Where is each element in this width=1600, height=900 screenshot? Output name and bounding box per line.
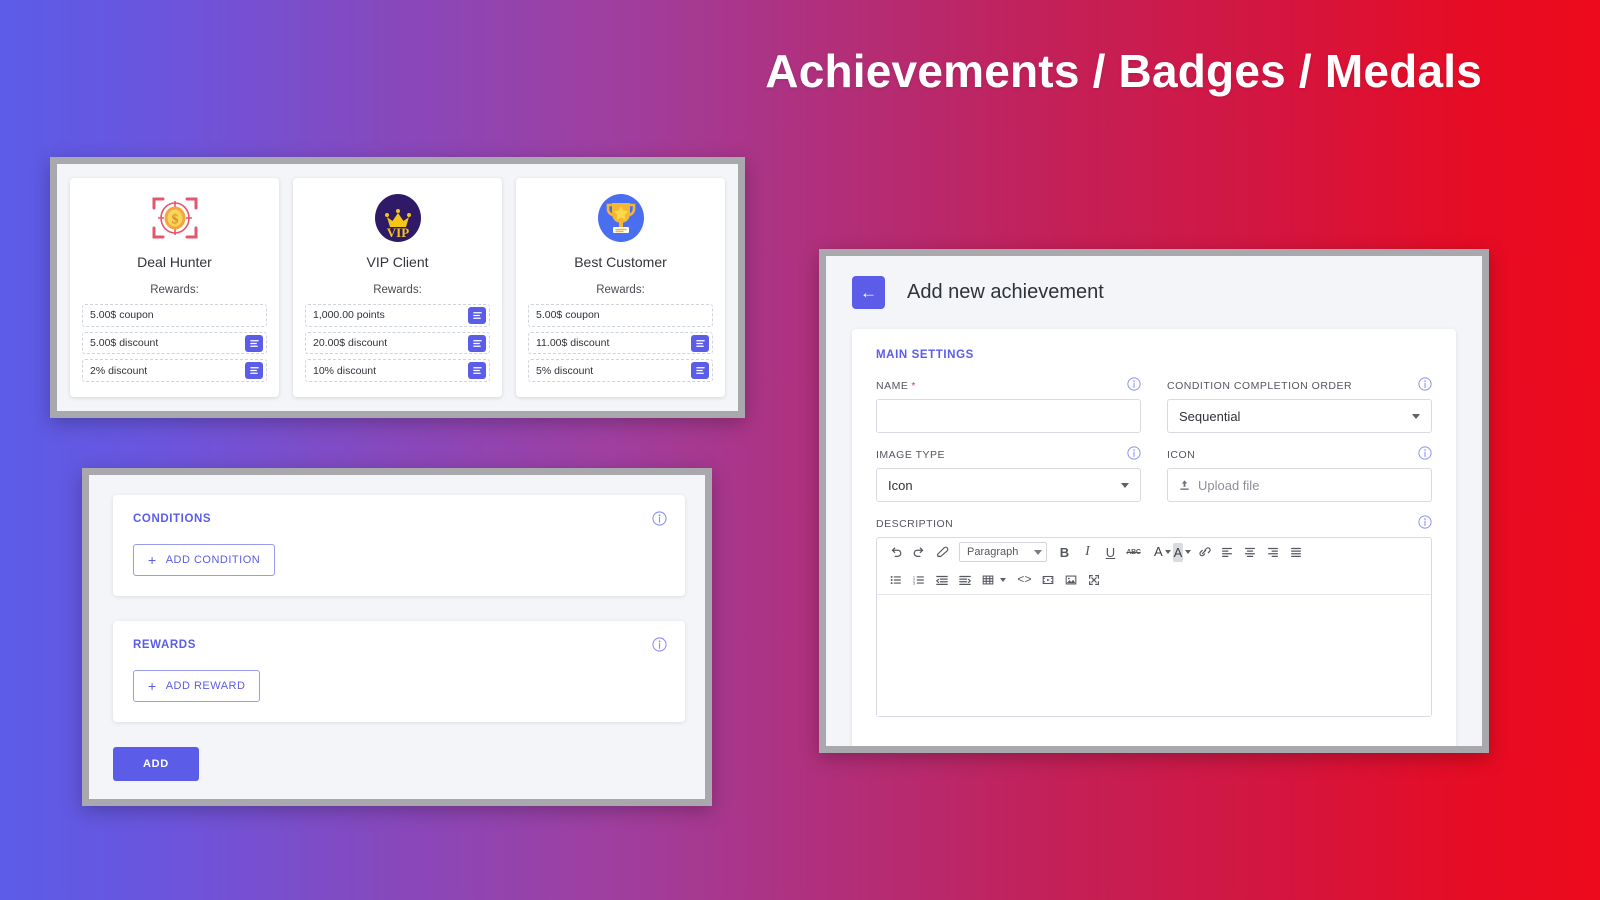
- image-icon[interactable]: [1060, 570, 1081, 590]
- arrow-left-icon[interactable]: ←: [852, 276, 885, 309]
- condition-order-value: Sequential: [1179, 409, 1240, 424]
- text-color-icon[interactable]: A: [1154, 543, 1171, 561]
- field-image-type: IMAGE TYPE Icon: [876, 449, 1141, 502]
- condition-order-label: CONDITION COMPLETION ORDER: [1167, 380, 1432, 392]
- block-format-value: Paragraph: [967, 546, 1018, 558]
- reward-detail-icon[interactable]: [468, 335, 486, 352]
- field-icon: ICON Uplo: [1167, 449, 1432, 502]
- page-title: Achievements / Badges / Medals: [765, 44, 1482, 98]
- reward-text: 5.00$ coupon: [536, 309, 691, 321]
- badge-name: Best Customer: [574, 254, 667, 270]
- field-description: DESCRIPTION: [876, 518, 1432, 717]
- badge-card-best-customer[interactable]: Best Customer Rewards: 5.00$ coupon 11.0…: [516, 178, 725, 397]
- editor-toolbar-row-2: 123: [877, 566, 1431, 594]
- info-icon[interactable]: [1418, 377, 1432, 391]
- reward-row[interactable]: 2% discount: [82, 359, 267, 382]
- reward-text: 2% discount: [90, 365, 245, 377]
- reward-row[interactable]: 5.00$ discount: [82, 332, 267, 355]
- condition-order-select[interactable]: Sequential: [1167, 399, 1432, 433]
- reward-row[interactable]: 20.00$ discount: [305, 332, 490, 355]
- reward-row[interactable]: 10% discount: [305, 359, 490, 382]
- badge-card-vip-client[interactable]: VIP VIP Client Rewards: 1,000.00 points …: [293, 178, 502, 397]
- italic-icon[interactable]: I: [1077, 542, 1098, 562]
- numbered-list-icon[interactable]: 123: [908, 570, 929, 590]
- reward-detail-icon[interactable]: [245, 335, 263, 352]
- add-condition-label: ADD CONDITION: [166, 554, 261, 566]
- text-color-letter: A: [1154, 544, 1163, 559]
- info-icon[interactable]: [1127, 446, 1141, 460]
- reward-row[interactable]: 5% discount: [528, 359, 713, 382]
- plus-icon: +: [148, 553, 157, 567]
- info-icon[interactable]: [652, 511, 667, 526]
- info-icon[interactable]: [1418, 446, 1432, 460]
- highlight-letter: A: [1174, 545, 1183, 560]
- info-icon[interactable]: [1127, 377, 1141, 391]
- main-settings-card: MAIN SETTINGS NAME * CON: [852, 329, 1456, 753]
- video-icon[interactable]: [1037, 570, 1058, 590]
- reward-row[interactable]: 5.00$ coupon: [528, 304, 713, 327]
- bold-icon[interactable]: B: [1054, 542, 1075, 562]
- reward-text: 11.00$ discount: [536, 337, 691, 349]
- svg-text:$: $: [171, 213, 178, 228]
- name-input[interactable]: [876, 399, 1141, 433]
- upload-label: Upload file: [1198, 478, 1259, 493]
- description-editor-body[interactable]: [877, 594, 1431, 716]
- field-name: NAME *: [876, 380, 1141, 433]
- rewards-section: REWARDS + ADD REWARD: [113, 621, 685, 722]
- image-type-label: IMAGE TYPE: [876, 449, 1141, 461]
- chevron-down-icon[interactable]: [1000, 578, 1006, 582]
- add-achievement-panel: ← Add new achievement MAIN SETTINGS NAME…: [819, 249, 1489, 753]
- badge-card-deal-hunter[interactable]: $ Deal Hunter Rewards: 5.00$ coupon 5.00…: [70, 178, 279, 397]
- description-label: DESCRIPTION: [876, 518, 1432, 530]
- upload-icon: [1179, 479, 1190, 491]
- reward-detail-icon[interactable]: [468, 362, 486, 379]
- field-condition-completion-order: CONDITION COMPLETION ORDER Sequential: [1167, 380, 1432, 433]
- align-justify-icon[interactable]: [1285, 542, 1306, 562]
- image-type-select[interactable]: Icon: [876, 468, 1141, 502]
- name-label: NAME *: [876, 380, 1141, 392]
- reward-detail-icon[interactable]: [691, 362, 709, 379]
- reward-detail-icon[interactable]: [691, 335, 709, 352]
- reward-row[interactable]: 5.00$ coupon: [82, 304, 267, 327]
- chevron-down-icon: [1034, 550, 1042, 555]
- conditions-title: CONDITIONS: [133, 513, 665, 525]
- rewards-label: Rewards:: [150, 284, 199, 296]
- svg-text:3: 3: [912, 581, 915, 586]
- bullet-list-icon[interactable]: [885, 570, 906, 590]
- target-coin-icon: $: [149, 192, 201, 244]
- reward-detail-icon[interactable]: [245, 362, 263, 379]
- add-reward-label: ADD REWARD: [166, 680, 246, 692]
- rewards-label: Rewards:: [373, 284, 422, 296]
- highlight-color-icon[interactable]: A: [1173, 543, 1192, 562]
- align-center-icon[interactable]: [1239, 542, 1260, 562]
- panel-title: Add new achievement: [907, 281, 1104, 304]
- info-icon[interactable]: [1418, 515, 1432, 529]
- submit-add-button[interactable]: ADD: [113, 747, 199, 781]
- rewards-label: Rewards:: [596, 284, 645, 296]
- reward-text: 20.00$ discount: [313, 337, 468, 349]
- align-right-icon[interactable]: [1262, 542, 1283, 562]
- icon-upload-button[interactable]: Upload file: [1167, 468, 1432, 502]
- svg-text:VIP: VIP: [386, 225, 408, 240]
- reward-text: 5.00$ coupon: [90, 309, 245, 321]
- link-icon[interactable]: [1193, 542, 1214, 562]
- outdent-icon[interactable]: [931, 570, 952, 590]
- block-format-select[interactable]: Paragraph: [959, 542, 1047, 562]
- reward-row[interactable]: 11.00$ discount: [528, 332, 713, 355]
- reward-text: 5.00$ discount: [90, 337, 245, 349]
- chevron-down-icon: [1412, 414, 1420, 419]
- editor-toolbar-row-1: Paragraph B I U ABC A: [877, 538, 1431, 566]
- add-reward-button[interactable]: + ADD REWARD: [133, 670, 260, 702]
- chevron-down-icon: [1185, 550, 1191, 554]
- chevron-down-icon: [1121, 483, 1129, 488]
- reward-text: 5% discount: [536, 365, 691, 377]
- description-rich-text-editor: Paragraph B I U ABC A: [876, 537, 1432, 717]
- trophy-icon: [595, 192, 647, 244]
- required-marker: *: [911, 380, 916, 392]
- align-left-icon[interactable]: [1216, 542, 1237, 562]
- undo-icon[interactable]: [885, 542, 906, 562]
- badges-panel: $ Deal Hunter Rewards: 5.00$ coupon 5.00…: [50, 157, 745, 418]
- underline-icon[interactable]: U: [1100, 542, 1121, 562]
- image-type-value: Icon: [888, 478, 913, 493]
- badge-name: Deal Hunter: [137, 254, 212, 270]
- main-settings-title: MAIN SETTINGS: [876, 349, 1432, 361]
- indent-icon[interactable]: [954, 570, 975, 590]
- conditions-section: CONDITIONS + ADD CONDITION: [113, 495, 685, 596]
- chevron-down-icon: [1165, 550, 1171, 554]
- table-icon[interactable]: [977, 570, 998, 590]
- plus-icon: +: [148, 679, 157, 693]
- add-condition-button[interactable]: + ADD CONDITION: [133, 544, 275, 576]
- redo-icon[interactable]: [908, 542, 929, 562]
- reward-detail-icon[interactable]: [468, 307, 486, 324]
- reward-row[interactable]: 1,000.00 points: [305, 304, 490, 327]
- reward-text: 1,000.00 points: [313, 309, 468, 321]
- rewards-title: REWARDS: [133, 639, 665, 651]
- badge-name: VIP Client: [367, 254, 429, 270]
- achievement-builder-panel: CONDITIONS + ADD CONDITION REWARDS: [82, 468, 712, 806]
- reward-text: 10% discount: [313, 365, 468, 377]
- clear-format-icon[interactable]: [931, 542, 952, 562]
- source-code-icon[interactable]: <>: [1014, 570, 1035, 590]
- icon-label: ICON: [1167, 449, 1432, 461]
- strikethrough-icon[interactable]: ABC: [1123, 542, 1144, 562]
- panel-header: ← Add new achievement: [826, 256, 1482, 329]
- vip-crown-icon: VIP: [372, 192, 424, 244]
- info-icon[interactable]: [652, 637, 667, 652]
- fullscreen-icon[interactable]: [1083, 570, 1104, 590]
